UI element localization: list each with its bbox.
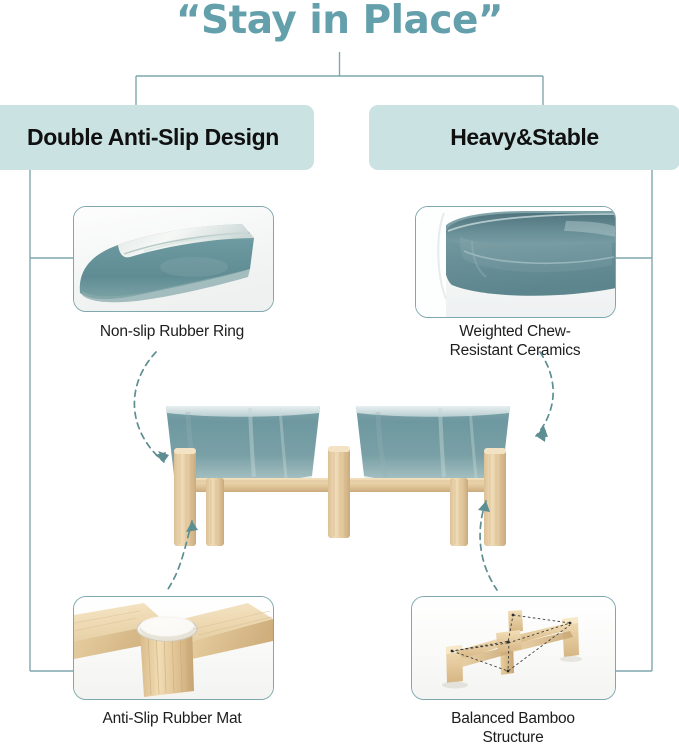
- arrow-path-ceramics: [536, 352, 553, 436]
- bowl-base-rubber-ring-image: [74, 207, 273, 311]
- category-label-text: Heavy&Stable: [450, 124, 599, 151]
- caption-text-line2: Structure: [482, 729, 543, 746]
- bamboo-stand-structure-image: [412, 597, 615, 699]
- page-title: “Stay in Place”: [0, 0, 679, 43]
- category-label-double-anti-slip-design[interactable]: Double Anti-Slip Design: [0, 105, 314, 170]
- category-label-text: Double Anti-Slip Design: [27, 124, 279, 151]
- caption-text: Non-slip Rubber Ring: [100, 323, 244, 340]
- product-image-elevated-double-bowl-stand: [150, 382, 530, 562]
- feature-photo-anti-slip-rubber-mat[interactable]: [73, 596, 274, 700]
- feature-caption-anti-slip-rubber-mat: Anti-Slip Rubber Mat: [52, 709, 292, 728]
- category-label-heavy-and-stable[interactable]: Heavy&Stable: [369, 105, 679, 170]
- bamboo-leg-rubber-pad-image: [74, 597, 273, 699]
- feature-caption-non-slip-rubber-ring: Non-slip Rubber Ring: [52, 322, 292, 341]
- feature-photo-weighted-chew-resistant-ceramics[interactable]: [415, 206, 616, 318]
- ceramic-bowl-interior-image: [416, 207, 615, 317]
- caption-text: Anti-Slip Rubber Mat: [102, 710, 241, 727]
- caption-text-line2: Resistant Ceramics: [450, 342, 581, 359]
- caption-text-line1: Balanced Bamboo: [451, 710, 575, 727]
- feature-photo-non-slip-rubber-ring[interactable]: [73, 206, 274, 312]
- arrowhead-ceramics: [536, 430, 546, 442]
- double-bowl-bamboo-stand-illustration: [150, 382, 530, 562]
- feature-caption-balanced-bamboo-structure: Balanced Bamboo Structure: [408, 709, 618, 747]
- feature-photo-balanced-bamboo-structure[interactable]: [411, 596, 616, 700]
- infographic-canvas: “Stay in Place” Double Anti: [0, 0, 679, 742]
- caption-text-line1: Weighted Chew-: [459, 323, 571, 340]
- feature-caption-weighted-chew-resistant-ceramics: Weighted Chew- Resistant Ceramics: [410, 322, 620, 360]
